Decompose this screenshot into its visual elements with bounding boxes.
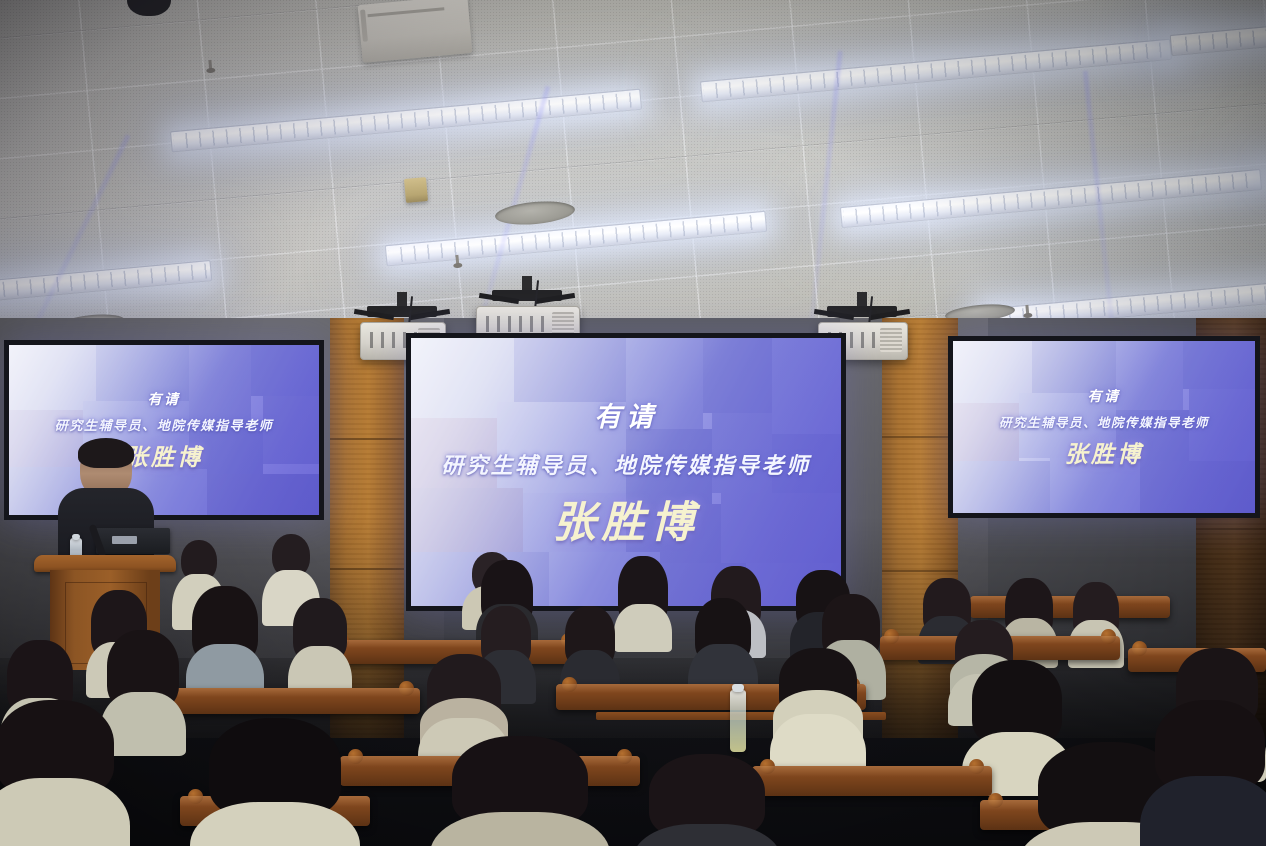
slide-line-role: 研究生辅导员、地院传媒指导老师 <box>55 415 273 434</box>
audience-person <box>430 736 610 846</box>
fluorescent-light-panel <box>1170 5 1266 56</box>
bottle-cap <box>72 534 80 540</box>
audience-person <box>770 648 866 770</box>
slide-line-invite: 有请 <box>594 395 658 434</box>
screen-bottom-bar <box>965 513 1243 518</box>
audience-person <box>288 598 352 690</box>
left-screen[interactable]: 有请 研究生辅导员、地院传媒指导老师 张胜博 <box>4 340 324 520</box>
slide-line-role: 研究生辅导员、地院传媒指导老师 <box>441 448 811 480</box>
bottle-cap <box>732 684 744 692</box>
audience-person <box>632 754 782 846</box>
ceiling-tile-grid <box>0 0 1266 370</box>
ceiling-camera-icon <box>105 0 195 22</box>
audience-person <box>186 586 264 684</box>
ceiling-tile-seams <box>0 0 1266 370</box>
laptop <box>96 528 170 554</box>
bench-row <box>752 766 992 796</box>
audience-person <box>0 700 130 846</box>
audience-person <box>688 598 758 694</box>
fluorescent-light-panel <box>0 260 212 311</box>
lecture-hall-photo: 有请 研究生辅导员、地院传媒指导老师 张胜博 <box>0 0 1266 846</box>
ceiling-texture <box>0 0 1266 370</box>
sprinkler-head <box>454 255 460 269</box>
ceiling <box>0 0 1266 370</box>
slide-line-role: 研究生辅导员、地院传媒指导老师 <box>999 412 1209 431</box>
audience-person <box>190 718 360 846</box>
ceiling-air-box <box>358 0 473 63</box>
audience-person <box>614 556 672 642</box>
slide-line-name: 张胜博 <box>1065 435 1144 469</box>
water-bottle <box>730 690 746 752</box>
smoke-detector <box>404 177 428 203</box>
fluorescent-light-panel <box>170 89 642 153</box>
sprinkler-head <box>207 60 213 74</box>
fluorescent-light-panel <box>840 169 1262 228</box>
air-diffuser <box>494 198 576 227</box>
fluorescent-light-panel <box>700 39 1172 103</box>
slide-line-invite: 有请 <box>1087 386 1120 406</box>
slide-line-name: 张胜博 <box>552 488 699 550</box>
audience-person <box>1140 700 1266 846</box>
fluorescent-light-panel <box>385 211 767 267</box>
slide-line-invite: 有请 <box>147 389 180 409</box>
right-screen[interactable]: 有请 研究生辅导员、地院传媒指导老师 张胜博 <box>948 336 1260 518</box>
